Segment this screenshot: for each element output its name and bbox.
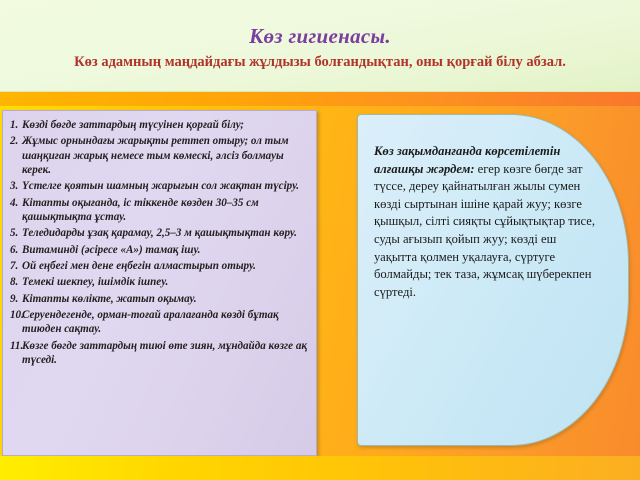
list-item: 8.Темекі шекпеу, ішімдік ішпеу. [10,275,310,289]
list-item-text: Көзді бөгде заттардың түсуінен қорғай бі… [22,119,244,131]
page-title: Көз гигиенасы. [0,24,640,49]
hygiene-rules-box: 1.Көзді бөгде заттардың түсуінен қорғай … [2,110,317,456]
list-item-text: Жұмыс орнындағы жарықты реттеп отыру; ол… [22,135,289,175]
list-item: 10.Серуендегенде, орман-тоғай аралағанда… [10,308,310,336]
first-aid-panel: Көз зақымданғанда көрсетілетін алғашқы ж… [357,114,629,446]
bottom-accent-band [0,456,640,480]
list-item: 11.Көзге бөгде заттардың тиюі өте зиян, … [10,339,310,367]
list-item: 2.Жұмыс орнындағы жарықты реттеп отыру; … [10,134,310,177]
list-item-number: 6. [10,243,22,257]
list-item-number: 5. [10,226,22,240]
page-subtitle: Көз адамның маңдайдағы жұлдызы болғандық… [0,54,640,71]
list-item-number: 7. [10,259,22,273]
list-item: 4.Кітапты оқығанда, іс тіккенде көзден 3… [10,196,310,224]
list-item: 3.Үстелге қоятын шамның жарығын сол жақт… [10,179,310,193]
list-item: 5.Теледидарды ұзақ қарамау, 2,5–3 м қашы… [10,226,310,240]
list-item-number: 4. [10,196,22,210]
list-item-text: Үстелге қоятын шамның жарығын сол жақтан… [22,180,299,192]
list-item-number: 2. [10,134,22,148]
list-item-text: Кітапты көлікте, жатып оқымау. [22,293,197,305]
list-item: 7.Ой еңбегі мен дене еңбегін алмастырып … [10,259,310,273]
slide-header: Көз гигиенасы. Көз адамның маңдайдағы жұ… [0,0,640,92]
list-item-number: 9. [10,292,22,306]
list-item-number: 3. [10,179,22,193]
list-item: 9.Кітапты көлікте, жатып оқымау. [10,292,310,306]
list-item-text: Серуендегенде, орман-тоғай аралағанда кө… [22,309,279,335]
list-item-number: 11. [10,339,22,353]
list-item-text: Теледидарды ұзақ қарамау, 2,5–3 м қашықт… [22,227,297,239]
list-item-number: 10. [10,308,22,322]
first-aid-text: Көз зақымданғанда көрсетілетін алғашқы ж… [374,143,598,301]
header-accent-strip [0,92,640,106]
list-item-text: Витаминді (әсіресе «А») тамақ ішу. [22,244,200,256]
list-item: 1.Көзді бөгде заттардың түсуінен қорғай … [10,118,310,132]
list-item-number: 8. [10,275,22,289]
slide-canvas: Көз гигиенасы. Көз адамның маңдайдағы жұ… [0,0,640,480]
list-item-text: Ой еңбегі мен дене еңбегін алмастырып от… [22,260,256,272]
list-item-text: Көзге бөгде заттардың тиюі өте зиян, мұн… [22,340,307,366]
list-item-text: Темекі шекпеу, ішімдік ішпеу. [22,276,168,288]
list-item-number: 1. [10,118,22,132]
first-aid-body: егер көзге бөгде зат түссе, дереу қайнат… [374,162,595,299]
list-item-text: Кітапты оқығанда, іс тіккенде көзден 30–… [22,197,259,223]
list-item: 6.Витаминді (әсіресе «А») тамақ ішу. [10,243,310,257]
